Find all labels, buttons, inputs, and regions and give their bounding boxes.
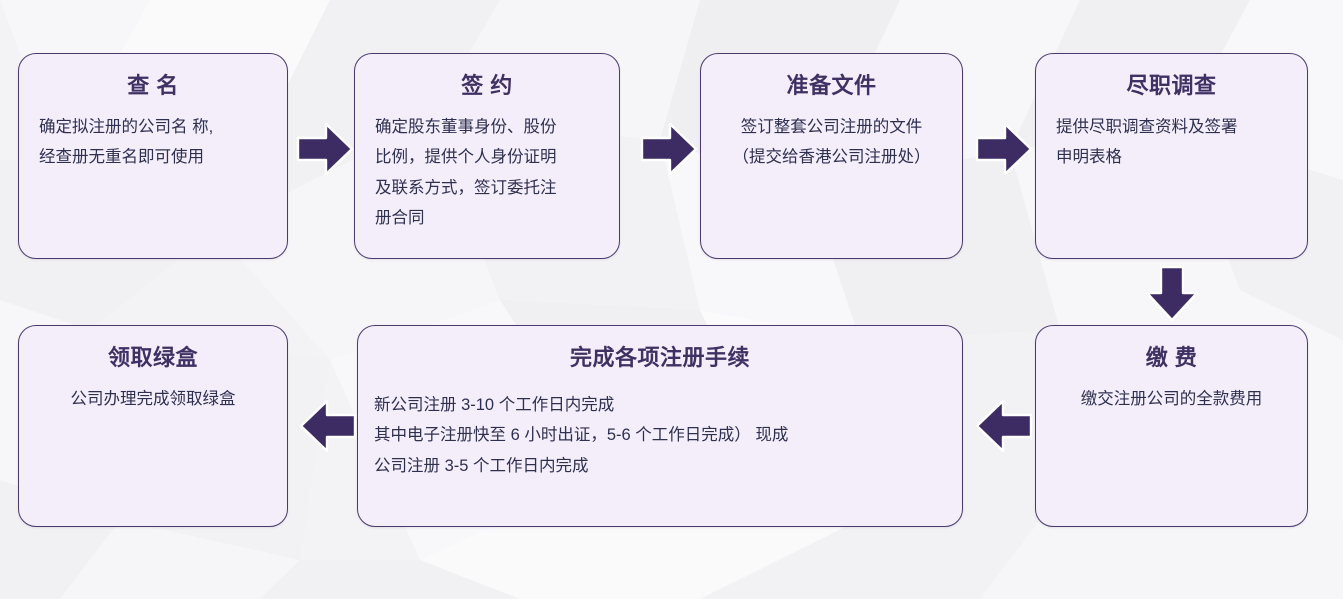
flow-arrow-right-2-3: [640, 118, 698, 180]
flow-node-title: 尽职调查: [1052, 72, 1291, 100]
flow-node-step-5[interactable]: 缴 费 缴交注册公司的全款费用: [1035, 325, 1308, 527]
flow-node-step-7[interactable]: 领取绿盒 公司办理完成领取绿盒: [18, 325, 288, 527]
flow-arrow-right-1-2: [296, 118, 354, 180]
flow-node-body: 确定拟注册的公司名 称, 经查册无重名即可使用: [35, 112, 271, 173]
flow-node-line: 申明表格: [1056, 142, 1287, 173]
flow-arrow-right-3-4: [975, 118, 1033, 180]
flow-arrow-down-4-5: [1141, 265, 1203, 323]
flow-node-step-4[interactable]: 尽职调查 提供尽职调查资料及签署 申明表格: [1035, 53, 1308, 259]
flow-node-title: 完成各项注册手续: [374, 344, 946, 372]
flow-node-step-3[interactable]: 准备文件 签订整套公司注册的文件 （提交给香港公司注册处）: [700, 53, 963, 259]
flow-node-title: 签 约: [371, 72, 603, 100]
flow-node-line: 册合同: [375, 203, 599, 234]
flow-node-line: 签订整套公司注册的文件: [717, 112, 946, 143]
flow-node-body: 签订整套公司注册的文件 （提交给香港公司注册处）: [717, 112, 946, 173]
flow-arrow-left-5-6: [975, 395, 1033, 457]
flow-node-line: 经查册无重名即可使用: [39, 142, 267, 173]
flow-node-line: 公司注册 3-5 个工作日内完成: [374, 451, 946, 482]
flow-node-line: 其中电子注册快至 6 小时出证，5-6 个工作日完成） 现成: [374, 420, 946, 451]
flow-node-title: 领取绿盒: [35, 344, 271, 372]
flow-node-body: 公司办理完成领取绿盒: [35, 384, 271, 415]
flow-node-line: 提供尽职调查资料及签署: [1056, 112, 1287, 143]
flow-node-body: 提供尽职调查资料及签署 申明表格: [1052, 112, 1291, 173]
flow-node-line: 公司办理完成领取绿盒: [35, 384, 271, 415]
flow-node-step-2[interactable]: 签 约 确定股东董事身份、股份 比例，提供个人身份证明 及联系方式，签订委托注 …: [354, 53, 620, 259]
flow-node-title: 准备文件: [717, 72, 946, 100]
flow-node-title: 查 名: [35, 72, 271, 100]
flow-node-line: 确定拟注册的公司名 称,: [39, 112, 267, 143]
flow-node-line: 及联系方式，签订委托注: [375, 173, 599, 204]
flow-node-line: 新公司注册 3-10 个工作日内完成: [374, 390, 946, 421]
flow-node-line: 比例，提供个人身份证明: [375, 142, 599, 173]
flow-node-line: （提交给香港公司注册处）: [717, 142, 946, 173]
flow-node-line: 缴交注册公司的全款费用: [1052, 384, 1291, 415]
flow-node-title: 缴 费: [1052, 344, 1291, 372]
flow-node-body: 新公司注册 3-10 个工作日内完成 其中电子注册快至 6 小时出证，5-6 个…: [374, 390, 946, 482]
flow-node-step-6[interactable]: 完成各项注册手续 新公司注册 3-10 个工作日内完成 其中电子注册快至 6 小…: [357, 325, 963, 527]
flow-node-body: 缴交注册公司的全款费用: [1052, 384, 1291, 415]
flowchart-canvas: 查 名 确定拟注册的公司名 称, 经查册无重名即可使用 签 约 确定股东董事身份…: [0, 0, 1343, 599]
flow-node-line: 确定股东董事身份、股份: [375, 112, 599, 143]
flow-arrow-left-6-7: [299, 395, 357, 457]
flow-node-body: 确定股东董事身份、股份 比例，提供个人身份证明 及联系方式，签订委托注 册合同: [371, 112, 603, 234]
flow-node-step-1[interactable]: 查 名 确定拟注册的公司名 称, 经查册无重名即可使用: [18, 53, 288, 259]
